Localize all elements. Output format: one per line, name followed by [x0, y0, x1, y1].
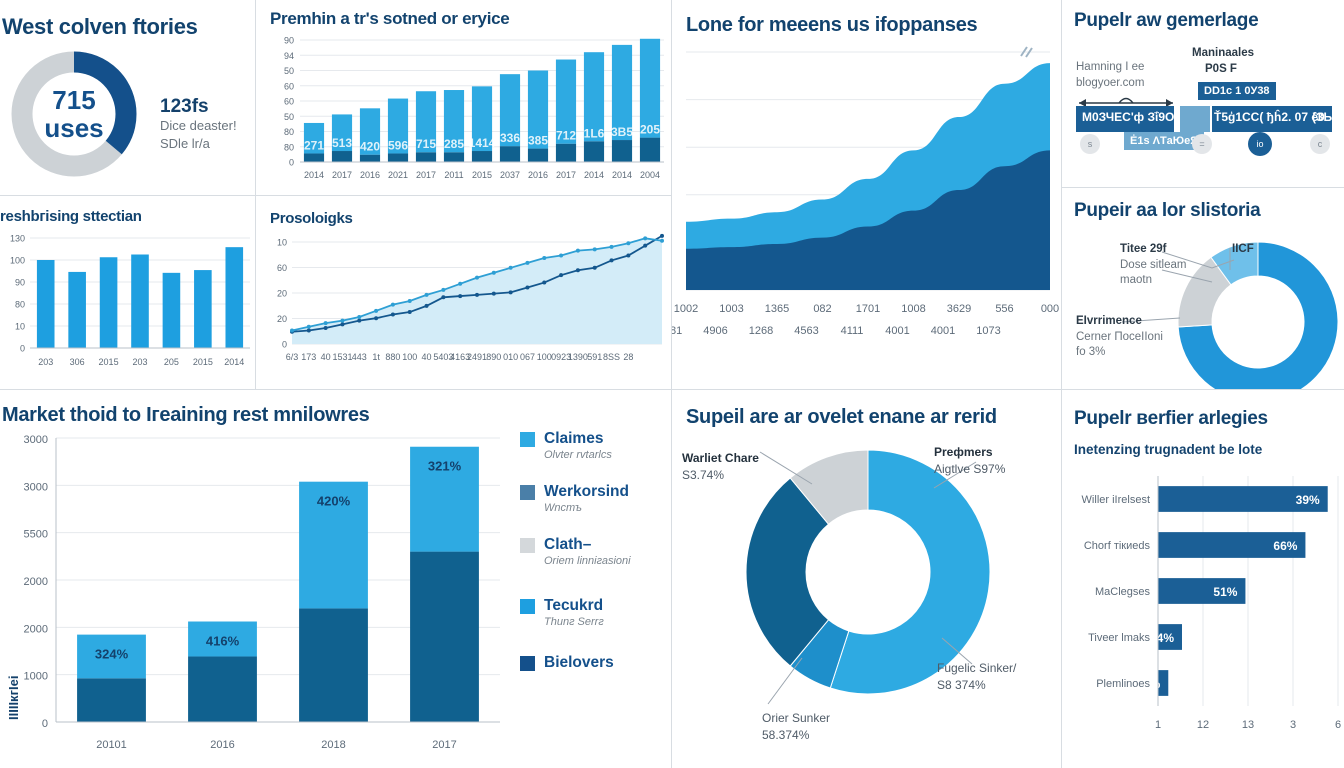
svg-text:2021: 2021 — [388, 170, 408, 180]
svg-text:2015: 2015 — [472, 170, 492, 180]
donut-center-label-tr: Preфmers — [934, 445, 993, 459]
strip-segment-3-label: Ť5ģ1СС( ђĥ2. 07 ё0 — [1214, 110, 1325, 124]
legend-label: Tecukrd — [544, 597, 603, 614]
svg-text:1003: 1003 — [719, 303, 743, 315]
svg-text:39%: 39% — [1296, 493, 1320, 507]
line-chart: 0202060106/31734015314431t88010040540341… — [256, 232, 672, 388]
legend-swatch-icon — [520, 599, 535, 614]
svg-text:2000: 2000 — [24, 576, 48, 588]
svg-text:1881: 1881 — [672, 325, 682, 337]
svg-text:3629: 3629 — [947, 303, 971, 315]
svg-text:4906: 4906 — [703, 325, 727, 337]
svg-text:420: 420 — [360, 140, 380, 154]
svg-text:60: 60 — [277, 263, 287, 273]
strip-badge-top[interactable]: DD1с 1 0У38 — [1198, 82, 1276, 100]
svg-text:80: 80 — [15, 300, 25, 310]
strip-note-mid-2: P0S F — [1205, 62, 1237, 77]
panel-donut-right-title: Pupeir аа lor slistoria — [1074, 200, 1260, 222]
svg-text:3: 3 — [1290, 719, 1296, 731]
panel-h-bars-subtitle: Іnetenzing trugnadent be lote — [1074, 442, 1262, 457]
legend-item[interactable]: Werkorsind Wnстъ — [520, 483, 670, 514]
svg-text:90: 90 — [284, 36, 294, 46]
svg-text:513: 513 — [332, 136, 352, 150]
svg-text:2017: 2017 — [416, 170, 436, 180]
legend-label: Bielovers — [544, 654, 614, 671]
svg-text:443: 443 — [352, 352, 367, 362]
svg-text:2016: 2016 — [528, 170, 548, 180]
legend-item[interactable]: Bielovers — [520, 654, 670, 672]
svg-text:2014: 2014 — [612, 170, 632, 180]
svg-text:4563: 4563 — [794, 325, 818, 337]
svg-text:0: 0 — [20, 344, 25, 354]
svg-text:3000: 3000 — [24, 481, 48, 493]
svg-text:2014: 2014 — [584, 170, 604, 180]
legend-swatch-icon — [520, 538, 535, 553]
svg-text:3B5: 3B5 — [611, 125, 633, 139]
legend-item[interactable]: Tecukrd Thunг Serrг — [520, 597, 670, 628]
svg-text:2014: 2014 — [224, 357, 244, 367]
svg-text:1002: 1002 — [674, 303, 698, 315]
svg-text:12: 12 — [1197, 719, 1209, 731]
svg-text:1701: 1701 — [856, 303, 880, 315]
svg-text:203: 203 — [38, 357, 53, 367]
svg-text:4001: 4001 — [885, 325, 909, 337]
legend-sub: Oriem lіnniгаѕioni — [544, 555, 631, 567]
svg-text:80: 80 — [284, 127, 294, 137]
legend-label: Claimes — [544, 430, 603, 447]
svg-text:1390: 1390 — [568, 352, 588, 362]
svg-text:6/3: 6/3 — [286, 352, 299, 362]
svg-text:66%: 66% — [1273, 539, 1297, 553]
svg-text:130: 130 — [10, 234, 25, 244]
svg-text:13: 13 — [1242, 719, 1254, 731]
panel-kpi-donut-title: West colven ftories — [2, 14, 198, 40]
svg-text:1073: 1073 — [976, 325, 1000, 337]
svg-text:51%: 51% — [1213, 585, 1237, 599]
legend-sub: Olvter rvtarlcs — [544, 449, 612, 461]
svg-text:2017: 2017 — [332, 170, 352, 180]
legend-item[interactable]: Clath– Oriem lіnniгаѕioni — [520, 536, 670, 567]
legend-swatch-icon — [520, 485, 535, 500]
donut-right-label-2: IICF — [1232, 242, 1254, 258]
legend-swatch-icon — [520, 432, 535, 447]
svg-text:2491: 2491 — [467, 352, 487, 362]
svg-text:2014: 2014 — [304, 170, 324, 180]
svg-text:285: 285 — [444, 137, 464, 151]
legend-sub: Wnстъ — [544, 502, 629, 514]
svg-text:2015: 2015 — [193, 357, 213, 367]
svg-text:067: 067 — [520, 352, 535, 362]
svg-text:94: 94 — [284, 51, 294, 61]
svg-text:0: 0 — [42, 718, 48, 730]
svg-text:1414: 1414 — [469, 136, 496, 150]
svg-text:2000: 2000 — [24, 623, 48, 635]
donut-center-label-br: Fugelic Sinker/ — [937, 661, 1016, 675]
panel-donut-center-title: Supeil are ar ovelet enane ar rerid — [686, 406, 997, 429]
svg-text:385: 385 — [528, 134, 548, 148]
donut-center-value-br: S8 374% — [937, 678, 986, 692]
donut-center-value-bl: 58.374% — [762, 728, 809, 742]
svg-text:890: 890 — [486, 352, 501, 362]
panel-big-stacked: Market thoid to Ігeaining rest mnilowres… — [0, 390, 672, 768]
strip-segment-4-label: (ЗЬ1S) — [1312, 110, 1344, 124]
svg-text:0: 0 — [289, 158, 294, 168]
svg-text:420%: 420% — [317, 494, 351, 509]
donut-center-value-tr: Aigtlve S97% — [934, 462, 1005, 476]
svg-text:880: 880 — [385, 352, 400, 362]
kpi-side-value: 123fs — [160, 96, 209, 118]
h-bars-chart: 112133639%Willer iIrelsest66%Chorf тікиe… — [1062, 468, 1344, 758]
big-stacked-chart: 0100020002000550030003000324%20101416%20… — [0, 430, 520, 764]
svg-text:100: 100 — [402, 352, 417, 362]
donut-center-label-bl: Orier Sunker — [762, 711, 830, 725]
svg-text:90: 90 — [15, 278, 25, 288]
kpi-side-sub-2: SDlе lr/а — [160, 135, 210, 153]
svg-text:2017: 2017 — [556, 170, 576, 180]
kpi-value-number: 715 — [52, 85, 95, 115]
svg-text:1008: 1008 — [901, 303, 925, 315]
svg-text:Рlemlinoes: Рlemlinoes — [1096, 678, 1150, 690]
svg-text:40: 40 — [321, 352, 331, 362]
svg-text:1000: 1000 — [24, 671, 48, 683]
svg-text:715: 715 — [416, 137, 436, 151]
donut-center-label-tl: Warliet Chare — [682, 451, 759, 465]
donut-center-value-tl: S3.74% — [682, 468, 724, 482]
svg-text:2037: 2037 — [500, 170, 520, 180]
strip-icon-2[interactable]: io — [1248, 132, 1272, 156]
svg-text:1L6: 1L6 — [584, 126, 605, 140]
svg-text:336: 336 — [500, 131, 520, 145]
donut-right-label-3-title: EІvrrimence — [1076, 314, 1163, 330]
svg-text:10: 10 — [15, 322, 25, 332]
svg-text:20: 20 — [277, 314, 287, 324]
analytics-dashboard: West colven ftories 715 uses 123fs Dice … — [0, 0, 1344, 768]
svg-text:100: 100 — [10, 256, 25, 266]
svg-text:Tiveer lmaks: Tiveer lmaks — [1088, 632, 1150, 644]
donut-right-label-1-l2: Dose ѕitleam — [1120, 259, 1186, 271]
svg-text:Chorf тікиeds: Chorf тікиeds — [1084, 540, 1151, 552]
panel-kpi-donut: West colven ftories 715 uses 123fs Dice … — [0, 0, 256, 196]
svg-text:100: 100 — [537, 352, 552, 362]
svg-text:082: 082 — [813, 303, 831, 315]
svg-text:2016: 2016 — [360, 170, 380, 180]
svg-text:MaСlegses: MaСlegses — [1095, 586, 1151, 598]
svg-text:556: 556 — [995, 303, 1013, 315]
area-chart: 1002100313650821701100836295560001881490… — [672, 42, 1062, 382]
svg-text:271: 271 — [304, 138, 324, 152]
donut-right-label-1-l3: maotn — [1120, 274, 1152, 286]
panel-line-title: Prosoloigks — [270, 210, 353, 227]
svg-text:60: 60 — [284, 97, 294, 107]
svg-text:205: 205 — [164, 357, 179, 367]
big-stacked-legend: Claimes Olvter rvtarlcs Werkorsind Wnстъ… — [520, 430, 670, 682]
panel-donut-center: Supeil are ar ovelet enane ar rerid Warl… — [672, 390, 1062, 768]
panel-line-chart: Prosoloigks 0202060106/31734015314431t88… — [256, 196, 672, 390]
svg-text:6: 6 — [1335, 719, 1341, 731]
panel-horizontal-bars: Pupelr вerfier аrlegies Іnetenzing trugn… — [1062, 390, 1344, 768]
svg-text:1t: 1t — [372, 352, 380, 362]
svg-text:0: 0 — [282, 340, 287, 350]
svg-text:1531: 1531 — [332, 352, 352, 362]
svg-text:%: % — [1150, 677, 1161, 691]
kpi-center-value: 715 uses — [24, 86, 124, 142]
small-bars-chart: 0108090100130203306201520320520152014 — [0, 230, 256, 388]
strip-icon-0[interactable]: s — [1080, 134, 1100, 154]
strip-note-left-2: blogyoer.com — [1076, 76, 1144, 91]
donut-center-chart — [672, 442, 1062, 762]
svg-text:2011: 2011 — [444, 170, 463, 180]
legend-sub: Thunг Serrг — [544, 616, 604, 628]
svg-text:Willer iIrelsest: Willer iIrelsest — [1082, 494, 1150, 506]
sparkle-icon — [1017, 42, 1041, 62]
legend-label: Clath– — [544, 536, 591, 553]
strip-segment-1-label: M0ЗЧЕСʹф Зΐ9О — [1082, 110, 1174, 124]
strip-note-mid-1: Maninaales — [1192, 46, 1254, 61]
svg-text:60: 60 — [284, 81, 294, 91]
strip-segment-2[interactable] — [1180, 106, 1210, 132]
svg-text:324%: 324% — [95, 647, 129, 662]
donut-right-label-3-l2: Cerner ПoceIIoni — [1076, 331, 1163, 343]
svg-text:591: 591 — [587, 352, 602, 362]
legend-item[interactable]: Claimes Olvter rvtarlcs — [520, 430, 670, 461]
donut-right-chart — [1062, 230, 1344, 390]
svg-text:2015: 2015 — [99, 357, 119, 367]
svg-text:321%: 321% — [428, 459, 462, 474]
svg-text:50: 50 — [284, 112, 294, 122]
svg-text:10: 10 — [277, 238, 287, 248]
stacked-columns-chart: 0808050606050949027120145132017420201659… — [256, 34, 672, 194]
svg-text:5500: 5500 — [24, 529, 48, 541]
svg-text:203: 203 — [132, 357, 147, 367]
legend-label: Werkorsind — [544, 483, 629, 500]
svg-text:50: 50 — [284, 66, 294, 76]
svg-text:712: 712 — [556, 129, 576, 143]
strip-icon-1[interactable]: = — [1192, 134, 1212, 154]
svg-text:306: 306 — [70, 357, 85, 367]
svg-text:20: 20 — [277, 289, 287, 299]
panel-area-title: Lone for meeens us ifoppanses — [686, 14, 977, 37]
svg-text:205: 205 — [640, 123, 660, 137]
donut-right-label-1-title: Titee 29f — [1120, 242, 1186, 258]
panel-donut-right: Pupeir аа lor slistoria Titee 29f Dose ѕ… — [1062, 188, 1344, 390]
kpi-value-unit: uses — [44, 113, 103, 143]
svg-text:2018: 2018 — [321, 739, 345, 751]
svg-text:000: 000 — [1041, 303, 1059, 315]
strip-note-left-1: Hamning I ee — [1076, 60, 1144, 75]
svg-text:2017: 2017 — [432, 739, 456, 751]
panel-h-bars-title: Pupelr вerfier аrlegies — [1074, 408, 1268, 430]
svg-text:80: 80 — [284, 142, 294, 152]
svg-text:4%: 4% — [1157, 631, 1175, 645]
svg-text:416%: 416% — [206, 634, 240, 649]
svg-text:20101: 20101 — [96, 739, 127, 751]
donut-right-label-3-l3: fo 3% — [1076, 346, 1105, 358]
svg-text:2004: 2004 — [640, 170, 660, 180]
svg-text:1268: 1268 — [749, 325, 773, 337]
svg-text:1: 1 — [1155, 719, 1161, 731]
svg-text:28: 28 — [623, 352, 633, 362]
strip-icon-3[interactable]: c — [1310, 134, 1330, 154]
panel-stacked-columns-title: Premhin a tr's sotned or eryice — [270, 9, 509, 29]
svg-text:4111: 4111 — [841, 325, 864, 337]
panel-big-stacked-title: Market thoid to Ігeaining rest mnilowres — [2, 404, 370, 427]
legend-swatch-icon — [520, 656, 535, 671]
svg-text:173: 173 — [301, 352, 316, 362]
panel-kpi-strip-title: Pupelr аw gemerlage — [1074, 10, 1258, 32]
svg-text:596: 596 — [388, 138, 408, 152]
svg-text:3000: 3000 — [24, 434, 48, 446]
panel-small-bars: reshbгising sttectian 010809010013020330… — [0, 196, 256, 390]
panel-kpi-strip: Pupelr аw gemerlage Hamning I ee blogyoe… — [1062, 0, 1344, 188]
svg-text:2016: 2016 — [210, 739, 234, 751]
svg-text:1365: 1365 — [765, 303, 789, 315]
panel-small-bars-title: reshbгising sttectian — [0, 208, 142, 225]
svg-text:8SS: 8SS — [603, 352, 620, 362]
kpi-side-sub-1: Dice deaster! — [160, 117, 237, 135]
svg-text:010: 010 — [503, 352, 518, 362]
panel-stacked-columns: Premhin a tr's sotned or eryice 08080506… — [256, 0, 672, 196]
svg-text:40: 40 — [422, 352, 432, 362]
panel-area-chart: Lone for meeens us ifoppanses 1002100313… — [672, 0, 1062, 390]
svg-text:4001: 4001 — [931, 325, 955, 337]
